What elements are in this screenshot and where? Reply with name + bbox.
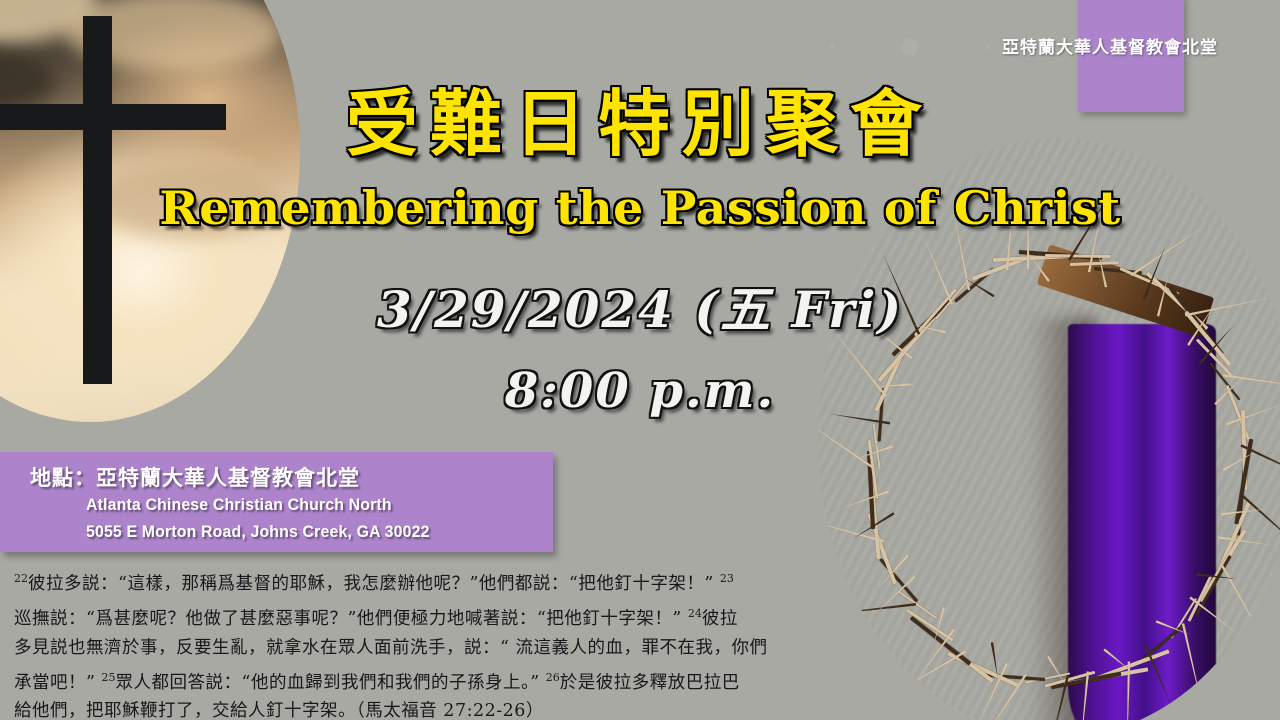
event-time: 8:00 p.m. xyxy=(0,363,1280,419)
event-date: 3/29/2024 (五 Fri) xyxy=(0,280,1280,339)
scripture-line: 多見説也無濟於事，反要生亂，就拿水在眾人面前洗手，説：“ 流這義人的血，罪不在我… xyxy=(14,634,954,663)
verse-number: 25 xyxy=(102,671,116,684)
church-tag-label: 亞特蘭大華人基督教會北堂 xyxy=(1002,33,1218,58)
location-address: 5055 E Morton Road, Johns Creek, GA 3002… xyxy=(86,522,430,542)
location-line-chinese: 地點：亞特蘭大華人基督教會北堂 xyxy=(30,462,360,492)
event-datetime: 3/29/2024 (五 Fri) 8:00 p.m. xyxy=(0,280,1280,419)
scripture-text: 於是彼拉多釋放巴拉巴 xyxy=(560,672,740,692)
page-title-chinese: 受難日特別聚會 xyxy=(0,88,1280,160)
scripture-text: 多見説也無濟於事，反要生亂，就拿水在眾人面前洗手，説：“ 流這義人的血，罪不在我… xyxy=(14,638,768,658)
location-line-english: Atlanta Chinese Christian Church North xyxy=(86,495,392,515)
scripture-text: 彼拉多説：“這樣，那稱爲基督的耶穌，我怎麼辦他呢？”他們都説：“把他釘十字架！” xyxy=(28,574,714,594)
verse-number: 22 xyxy=(14,572,28,585)
scripture-text: 彼拉 xyxy=(702,609,738,629)
scripture-passage: 22彼拉多説：“這樣，那稱爲基督的耶穌，我怎麼辦他呢？”他們都説：“把他釘十字架… xyxy=(14,564,954,720)
scripture-text: 眾人都回答説：“他的血歸到我們和我們的子孫身上。” xyxy=(116,672,540,692)
scripture-text: 給他們，把耶穌鞭打了，交給人釘十字架。（馬太福音 27:22-26） xyxy=(14,701,544,720)
flyer-slide: 亞特蘭大華人基督教會北堂 受難日特別聚會 Remembering the Pas… xyxy=(0,0,1280,720)
scripture-line: 承當吧！” 25眾人都回答説：“他的血歸到我們和我們的子孫身上。” 26於是彼拉… xyxy=(14,663,954,698)
page-title-english: Remembering the Passion of Christ xyxy=(0,185,1280,231)
verse-number: 26 xyxy=(546,671,560,684)
scripture-line: 給他們，把耶穌鞭打了，交給人釘十字架。（馬太福音 27:22-26） xyxy=(14,697,954,720)
scripture-line: 22彼拉多説：“這樣，那稱爲基督的耶穌，我怎麼辦他呢？”他們都説：“把他釘十字架… xyxy=(14,564,954,599)
background-watermark xyxy=(780,22,1040,72)
location-box: 地點：亞特蘭大華人基督教會北堂 Atlanta Chinese Christia… xyxy=(0,452,553,552)
scripture-line: 巡撫説：“爲甚麼呢？他做了甚麼惡事呢？”他們便極力地喊著説：“把他釘十字架！” … xyxy=(14,599,954,634)
verse-number: 24 xyxy=(688,607,702,620)
scripture-text: 承當吧！” xyxy=(14,672,95,692)
verse-number: 23 xyxy=(720,572,734,585)
scripture-text: 巡撫説：“爲甚麼呢？他做了甚麼惡事呢？”他們便極力地喊著説：“把他釘十字架！” xyxy=(14,609,682,629)
